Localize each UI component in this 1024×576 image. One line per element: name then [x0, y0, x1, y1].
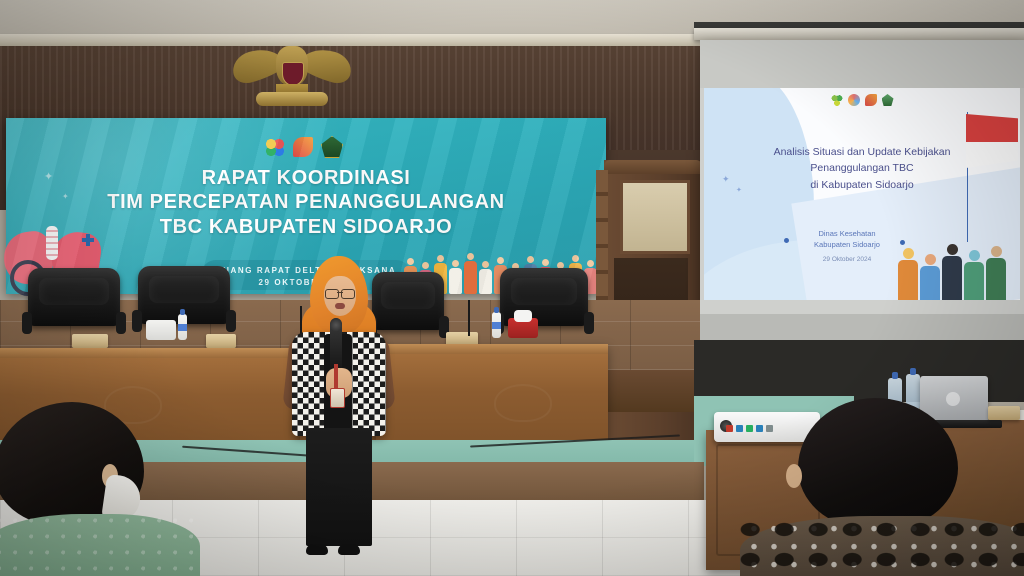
ear: [786, 464, 802, 488]
brown-batik-shirt: [740, 516, 1024, 576]
plus-icon: [82, 234, 94, 246]
swirl-logo: [848, 94, 860, 106]
health-logo: [831, 94, 843, 106]
presentation-slide: ✦ ✦ Analisis Situasi dan Update Kebijaka…: [704, 88, 1020, 300]
garuda-pancasila-emblem: [232, 40, 352, 108]
slide-logos: [704, 94, 1020, 106]
shoe: [306, 544, 328, 555]
skirt: [306, 428, 372, 546]
green-patterned-shirt: [0, 514, 200, 576]
desk-microphone: [468, 300, 470, 336]
mascot-logo: [293, 137, 313, 157]
sparkle-icon: ✦: [62, 192, 69, 201]
people-illustration: [898, 238, 1018, 300]
nameplate-2: [206, 334, 236, 348]
sidoarjo-crest-logo: [321, 136, 343, 158]
cabinet-panel: [620, 180, 690, 254]
nameplate-1: [72, 334, 108, 348]
office-chair: [28, 268, 120, 338]
sparkle-icon: ✦: [44, 170, 53, 183]
cabinet-base: [606, 368, 700, 412]
audience-member-front-right: [760, 398, 1020, 576]
hand-sanitizer-1: [178, 314, 187, 340]
screen-housing: [694, 28, 1024, 40]
banner-title-line1: RAPAT KOORDINASI: [6, 166, 606, 190]
hair: [798, 398, 958, 528]
banner-logos: [254, 134, 354, 160]
tissue-box-white: [146, 320, 176, 340]
presenter: [286, 256, 392, 566]
face: [324, 276, 356, 316]
projection-screen: ✦ ✦ Analisis Situasi dan Update Kebijaka…: [700, 40, 1024, 340]
kemenkes-logo: [265, 137, 285, 157]
banner-title-line2: TIM PERCEPATAN PENANGGULANGAN: [6, 190, 606, 214]
eyeglasses: [325, 289, 339, 299]
shoe: [338, 544, 360, 555]
cabinet-cornice: [604, 160, 702, 174]
slide-title-line1: Analisis Situasi dan Update Kebijakan: [718, 144, 1006, 160]
id-badge: [330, 388, 345, 408]
mascot-logo: [865, 94, 877, 106]
slide-title-line2: Penanggulangan TBC: [718, 160, 1006, 176]
tissue-box-red: [508, 318, 538, 338]
eyeglasses: [341, 289, 355, 299]
audience-member-front-left: [0, 402, 190, 576]
slide-title-line3: di Kabupaten Sidoarjo: [718, 177, 1006, 193]
sidoarjo-crest-logo: [882, 94, 894, 106]
banner-title: RAPAT KOORDINASI TIM PERCEPATAN PENANGGU…: [6, 166, 606, 239]
slide-title: Analisis Situasi dan Update Kebijakan Pe…: [718, 144, 1006, 193]
meeting-hall-photo: ✦ ✦ RAPAT KOORDINASI TIM PERCEPATAN PENA…: [0, 0, 1024, 576]
banner-title-line3: TBC KABUPATEN SIDOARJO: [6, 215, 606, 239]
hand-sanitizer-2: [492, 312, 501, 338]
